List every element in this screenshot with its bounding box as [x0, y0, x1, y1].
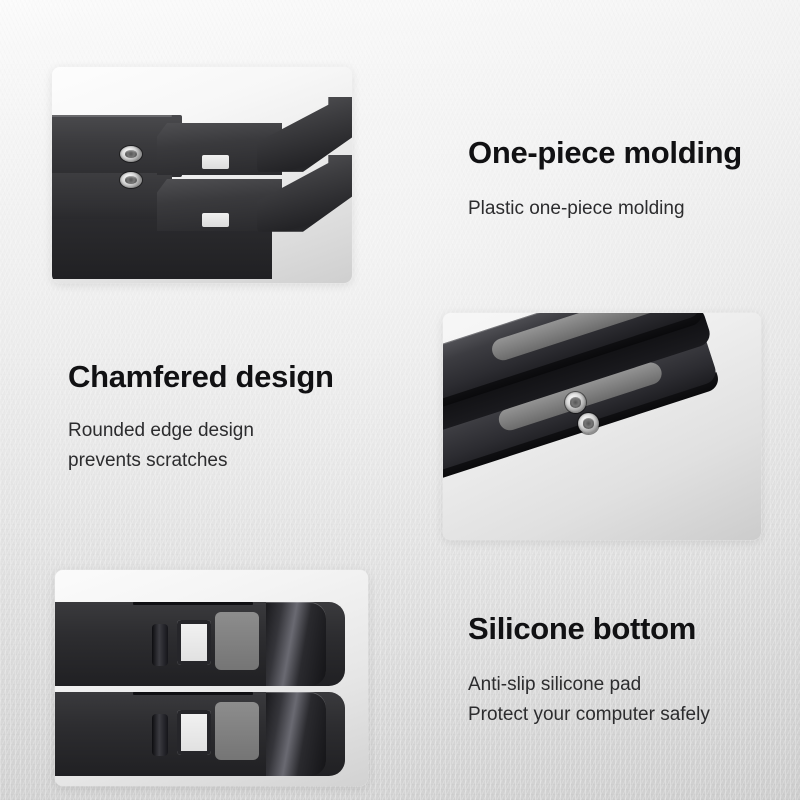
product-illustration-hinge [52, 67, 352, 283]
cutout-lower [177, 710, 211, 755]
bar-groove-upper [133, 602, 253, 605]
feature-heading: Silicone bottom [468, 612, 710, 646]
feature-line: Anti-slip silicone pad [468, 670, 710, 699]
feature-text-silicone-bottom: Silicone bottom Anti-slip silicone pad P… [468, 612, 710, 729]
photo-one-piece-molding [52, 67, 352, 283]
screw-lower [578, 413, 599, 434]
feature-line: Plastic one-piece molding [468, 194, 742, 223]
feature-heading: One-piece molding [468, 136, 742, 170]
bar-groove-lower [133, 692, 253, 695]
stand-slot-upper [202, 155, 229, 169]
hinge-tab-lower [152, 714, 168, 756]
silicone-pad-upper [215, 612, 259, 670]
stand-slot-lower [202, 213, 229, 227]
screw-upper [120, 146, 142, 162]
end-cap-upper [266, 602, 326, 686]
product-illustration-underside [55, 570, 368, 786]
end-cap-lower [266, 692, 326, 776]
feature-line: Protect your computer safely [468, 700, 710, 729]
silicone-pad-lower [215, 702, 259, 760]
infographic-canvas: One-piece molding Plastic one-piece mold… [0, 0, 800, 800]
screw-lower [120, 172, 142, 188]
cutout-upper [177, 620, 211, 665]
photo-silicone-bottom [55, 570, 368, 786]
screw-upper [565, 392, 586, 413]
photo-chamfered-design [443, 313, 761, 540]
feature-heading: Chamfered design [68, 360, 334, 394]
feature-line: prevents scratches [68, 446, 334, 475]
product-illustration-stacked-bars [443, 313, 761, 540]
body-highlight [52, 115, 172, 117]
feature-line: Rounded edge design [68, 416, 334, 445]
hinge-tab-upper [152, 624, 168, 666]
feature-text-one-piece-molding: One-piece molding Plastic one-piece mold… [468, 136, 742, 224]
feature-text-chamfered-design: Chamfered design Rounded edge design pre… [68, 360, 334, 475]
